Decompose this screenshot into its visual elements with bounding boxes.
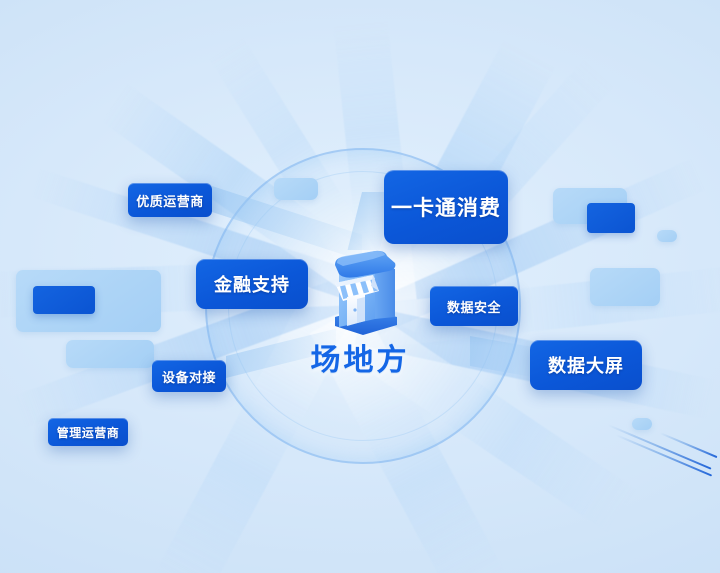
deco-rect-6 — [587, 203, 635, 233]
card-shebei-duijie[interactable]: 设备对接 — [152, 360, 226, 392]
storefront-icon — [313, 247, 413, 339]
card-shuju-daping[interactable]: 数据大屏 — [530, 340, 642, 390]
card-jinrong-zhichi[interactable]: 金融支持 — [196, 259, 308, 309]
card-guanli-yunyingshang[interactable]: 管理运营商 — [48, 418, 128, 446]
card-shuju-anquan[interactable]: 数据安全 — [430, 286, 518, 326]
deco-rect-3 — [33, 286, 95, 314]
deco-rect-8 — [590, 268, 660, 306]
deco-rect-7 — [657, 230, 677, 242]
infographic-canvas: 场地方 一卡通消费 金融支持 数据大屏 数据安全 优质运营商 设备对接 管理运营… — [0, 0, 720, 573]
deco-rect-4 — [274, 178, 318, 200]
card-youzhi-yunyingshang[interactable]: 优质运营商 — [128, 183, 212, 217]
card-yikatong-xiaofei[interactable]: 一卡通消费 — [384, 170, 508, 244]
deco-rect-9 — [632, 418, 652, 430]
